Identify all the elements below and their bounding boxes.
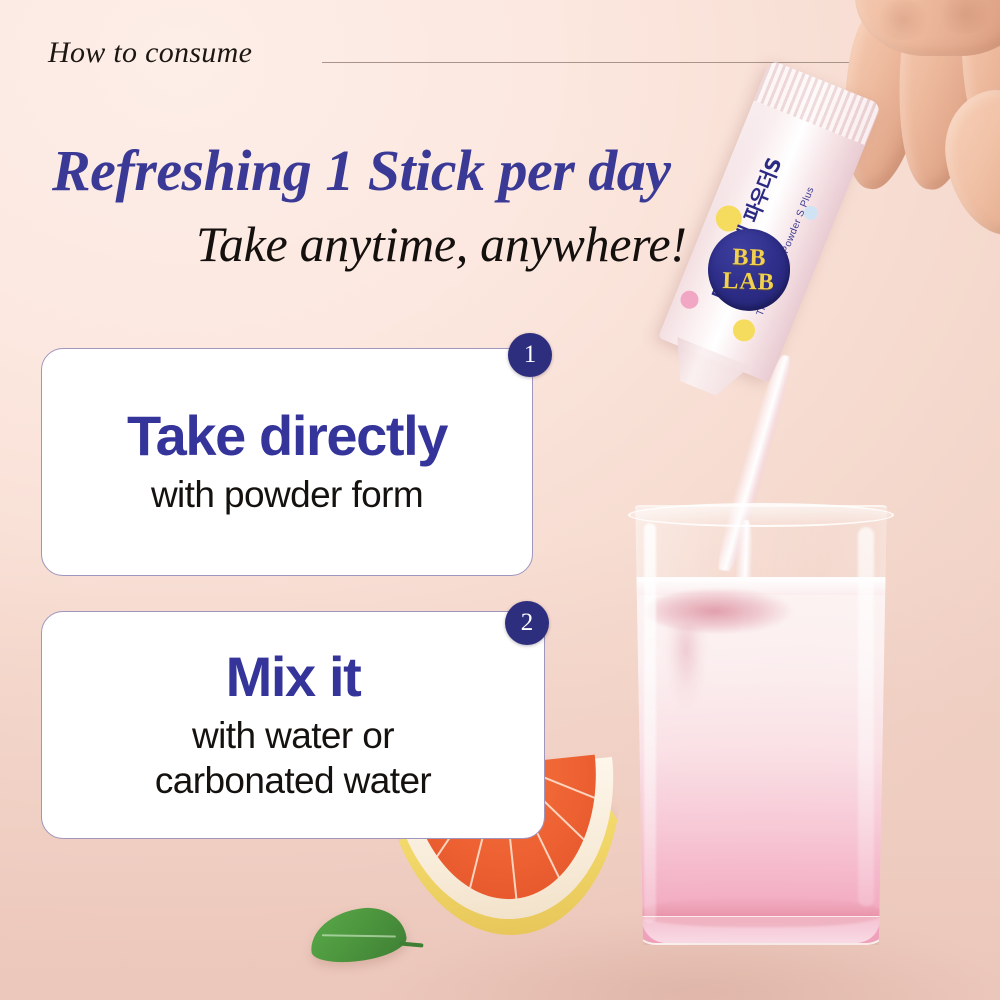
dot-yellow-2 bbox=[730, 316, 759, 345]
knuckle-shadow-1 bbox=[873, 0, 933, 40]
step-badge-1: 1 bbox=[508, 333, 552, 377]
section-eyebrow: How to consume bbox=[48, 36, 252, 70]
glass-base bbox=[642, 916, 880, 943]
step-card-2[interactable]: Mix it with water or carbonated water bbox=[41, 611, 545, 839]
page-headline: Refreshing 1 Stick per day bbox=[52, 142, 671, 200]
step-card-1-subtitle: with powder form bbox=[68, 473, 506, 517]
step-card-1[interactable]: Take directly with powder form bbox=[41, 348, 533, 576]
step-card-2-subtitle: with water or carbonated water bbox=[68, 714, 518, 803]
step-card-1-title: Take directly bbox=[68, 406, 506, 465]
step-card-2-content: Mix it with water or carbonated water bbox=[42, 647, 544, 803]
step-card-2-subtitle-line-2: carbonated water bbox=[68, 759, 518, 803]
step-card-1-subtitle-line-1: with powder form bbox=[68, 473, 506, 517]
page-subheadline: Take anytime, anywhere! bbox=[196, 219, 687, 269]
bblab-logo-line1: BB bbox=[732, 245, 767, 270]
step-card-2-subtitle-line-1: with water or bbox=[68, 714, 518, 758]
step-badge-2: 2 bbox=[505, 601, 549, 645]
glass-highlight-right bbox=[858, 527, 874, 907]
glass-rim bbox=[628, 503, 894, 527]
bblab-logo-line2: LAB bbox=[722, 269, 775, 295]
powder-trail bbox=[658, 625, 714, 745]
step-card-2-title: Mix it bbox=[68, 647, 518, 706]
glass-highlight-left bbox=[644, 523, 656, 923]
promo-canvas: How to consume Refreshing 1 Stick per da… bbox=[0, 0, 1000, 1000]
bblab-logo: BB LAB bbox=[699, 220, 798, 319]
drinking-glass bbox=[630, 505, 892, 945]
step-card-1-content: Take directly with powder form bbox=[42, 406, 532, 518]
dot-pink-2 bbox=[678, 288, 701, 311]
bblab-logo-text: BB LAB bbox=[707, 227, 792, 312]
leaf-stem bbox=[399, 941, 423, 947]
glass-body bbox=[630, 505, 892, 945]
